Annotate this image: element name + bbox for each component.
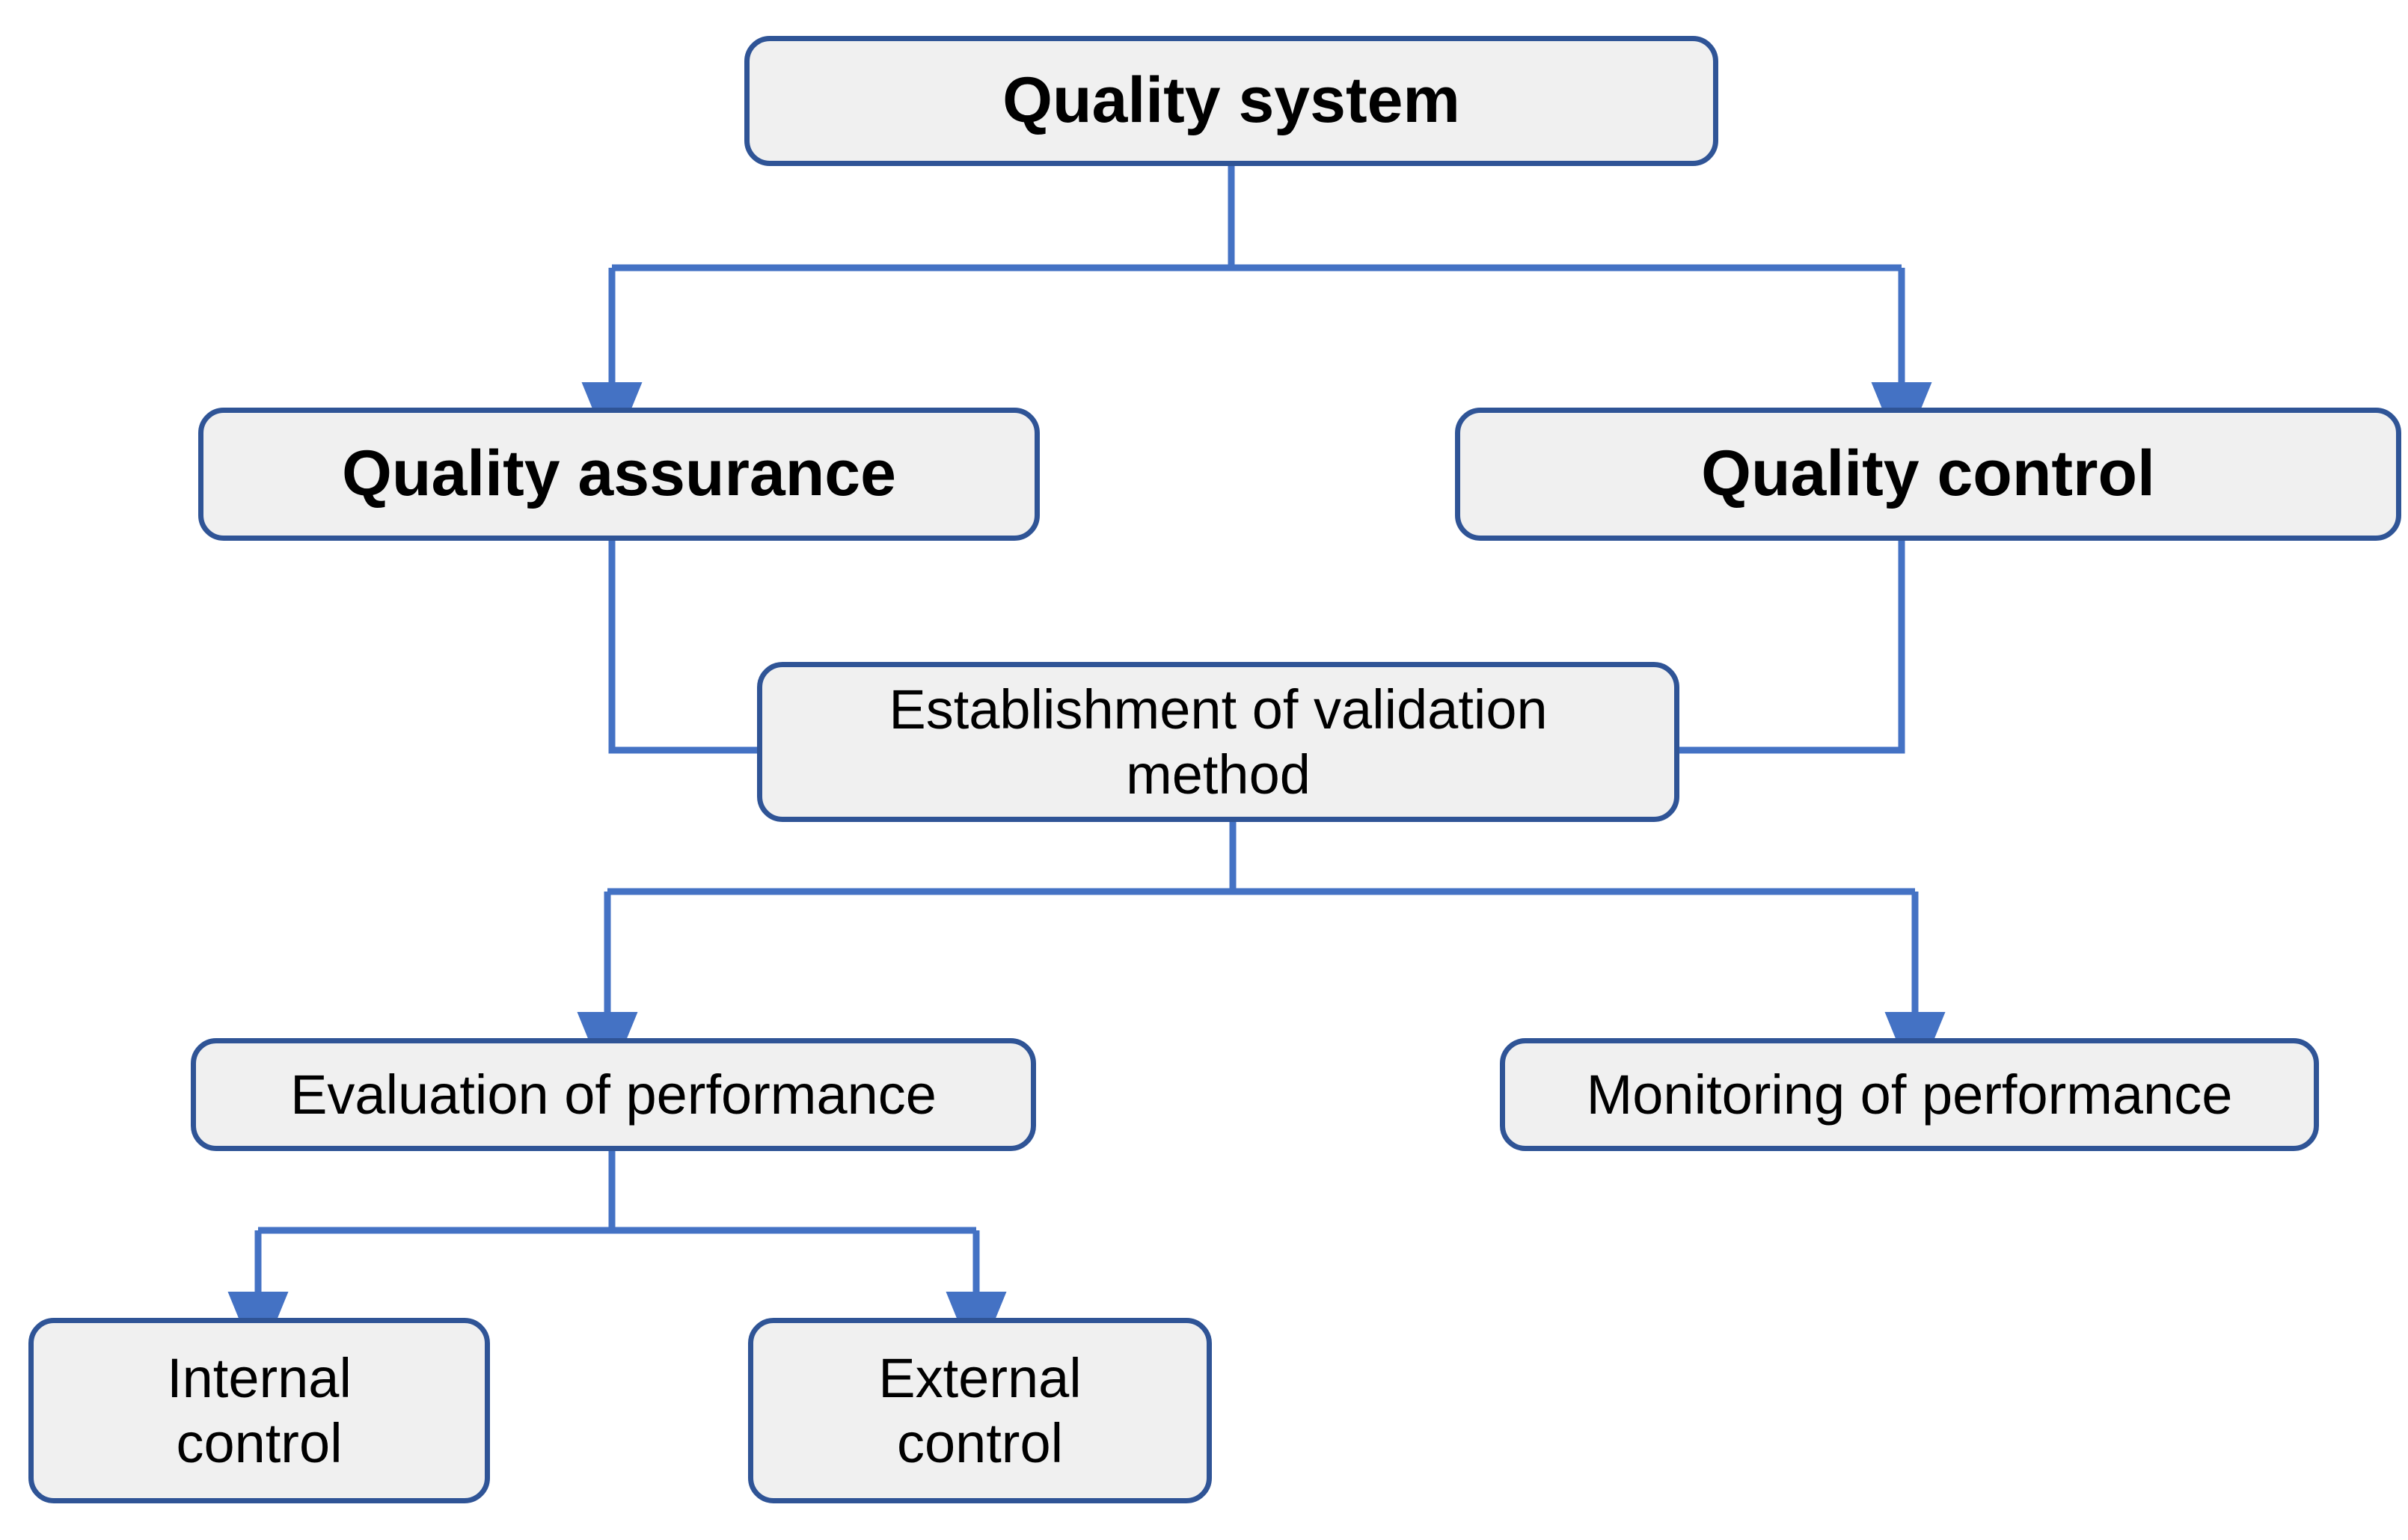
node-validation-method-label: Establishment of validation method	[869, 677, 1566, 808]
node-quality-control[interactable]: Quality control	[1455, 408, 2401, 541]
edge-evaluation-to-level5	[258, 1151, 976, 1298]
node-validation-method[interactable]: Establishment of validation method	[757, 662, 1679, 822]
node-evaluation-of-performance-label: Evaluation of performance	[271, 1062, 956, 1127]
node-quality-system-label: Quality system	[983, 63, 1480, 138]
node-monitoring-of-performance-label: Monitoring of performance	[1567, 1062, 2252, 1127]
node-external-control[interactable]: External control	[748, 1318, 1212, 1503]
node-internal-control-label: Internal control	[147, 1346, 371, 1476]
node-monitoring-of-performance[interactable]: Monitoring of performance	[1500, 1038, 2319, 1151]
node-quality-assurance[interactable]: Quality assurance	[198, 408, 1040, 541]
edge-quality-control-to-validation-method	[1679, 541, 1902, 750]
node-evaluation-of-performance[interactable]: Evaluation of performance	[191, 1038, 1036, 1151]
edge-validation-method-to-level4	[607, 822, 1915, 1019]
node-quality-system[interactable]: Quality system	[744, 36, 1718, 166]
flowchart-canvas: Quality system Quality assurance Quality…	[0, 0, 2408, 1540]
edge-quality-system-to-level2	[612, 166, 1902, 389]
node-external-control-label: External control	[859, 1346, 1100, 1476]
edge-quality-assurance-to-validation-method	[612, 541, 757, 750]
node-quality-assurance-label: Quality assurance	[322, 436, 916, 512]
node-internal-control[interactable]: Internal control	[28, 1318, 490, 1503]
node-quality-control-label: Quality control	[1682, 436, 2175, 512]
